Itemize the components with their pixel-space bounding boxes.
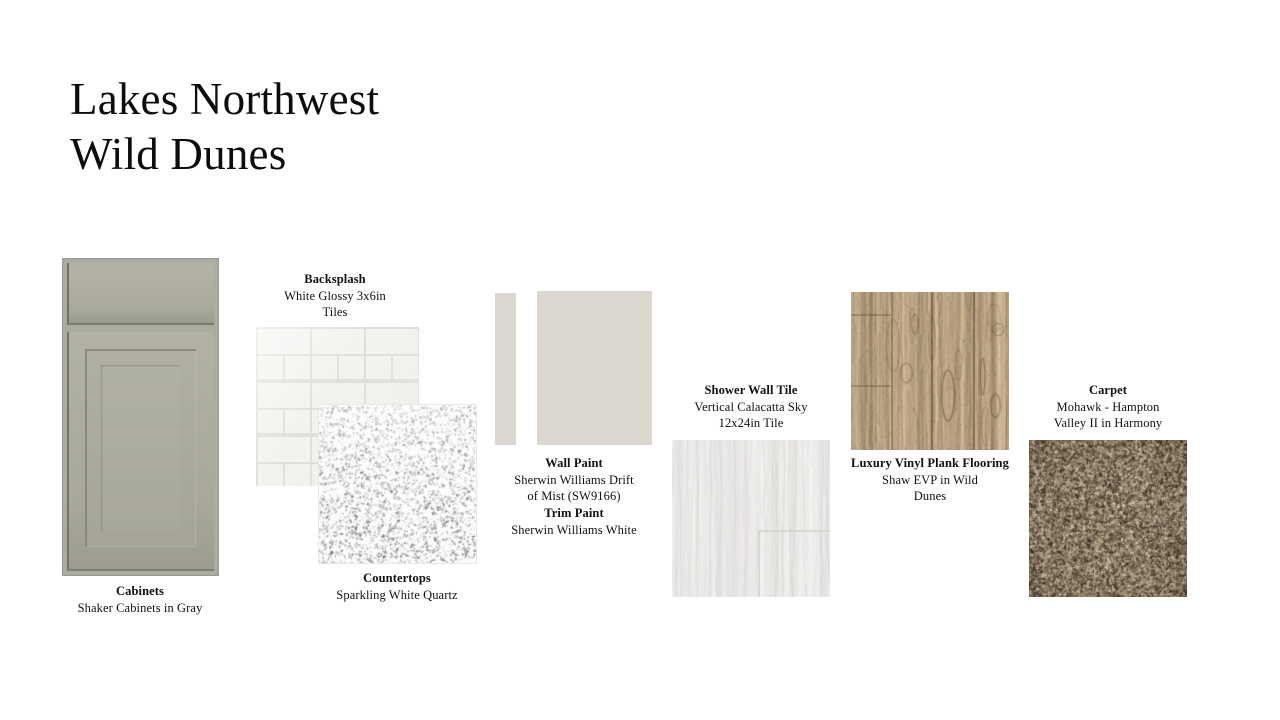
caption-carpet: Carpet Mohawk - Hampton Valley II in Har…: [1029, 382, 1187, 432]
swatch-countertops: [319, 405, 476, 563]
caption-wall-paint: Wall Paint Sherwin Williams Drift of Mis…: [495, 455, 653, 538]
cabinet-door-front: [67, 332, 214, 571]
tile-seam-vertical: [758, 530, 760, 597]
caption-shower-wall-tile-description: Vertical Calacatta Sky 12x24in Tile: [672, 399, 830, 432]
quartz-speckle-texture: [319, 405, 476, 563]
caption-carpet-description: Mohawk - Hampton Valley II in Harmony: [1029, 399, 1187, 432]
swatch-lvp-flooring: [851, 292, 1009, 450]
caption-lvp-flooring-description: Shaw EVP in Wild Dunes: [851, 472, 1009, 505]
caption-cabinets: Cabinets Shaker Cabinets in Gray: [50, 583, 230, 616]
plank-seam: [931, 292, 933, 450]
swatch-cabinets: [62, 258, 219, 576]
caption-wall-paint-label: Wall Paint: [495, 455, 653, 472]
plank-end-seam: [851, 385, 891, 387]
swatch-carpet: [1029, 440, 1187, 597]
caption-countertops: Countertops Sparkling White Quartz: [317, 570, 477, 603]
caption-backsplash-label: Backsplash: [254, 271, 416, 288]
caption-wall-paint-description: Sherwin Williams Drift of Mist (SW9166): [495, 472, 653, 505]
caption-shower-wall-tile-label: Shower Wall Tile: [672, 382, 830, 399]
cabinet-door-panel: [101, 365, 180, 531]
caption-countertops-label: Countertops: [317, 570, 477, 587]
plank-seam: [973, 292, 975, 450]
caption-backsplash: Backsplash White Glossy 3x6in Tiles: [254, 271, 416, 321]
caption-trim-paint-label: Trim Paint: [495, 505, 653, 522]
caption-carpet-label: Carpet: [1029, 382, 1187, 399]
mood-board: Lakes Northwest Wild Dunes Cabinets Shak…: [0, 0, 1280, 720]
swatch-trim-paint: [495, 293, 516, 445]
caption-lvp-flooring: Luxury Vinyl Plank Flooring Shaw EVP in …: [851, 455, 1009, 505]
caption-cabinets-description: Shaker Cabinets in Gray: [50, 600, 230, 617]
caption-lvp-flooring-label: Luxury Vinyl Plank Flooring: [851, 455, 1009, 472]
caption-backsplash-description: White Glossy 3x6in Tiles: [254, 288, 416, 321]
swatch-wall-paint: [537, 291, 652, 445]
plank-seam: [891, 292, 893, 450]
page-title: Lakes Northwest Wild Dunes: [70, 72, 379, 182]
marble-grain-texture: [672, 440, 830, 597]
caption-countertops-description: Sparkling White Quartz: [317, 587, 477, 604]
caption-shower-wall-tile: Shower Wall Tile Vertical Calacatta Sky …: [672, 382, 830, 432]
cabinet-door-frame: [85, 349, 196, 547]
wood-grain-texture: [851, 292, 1009, 450]
tile-seam-horizontal: [758, 530, 830, 532]
caption-cabinets-label: Cabinets: [50, 583, 230, 600]
plank-end-seam: [851, 314, 891, 316]
carpet-pile-texture: [1029, 440, 1187, 597]
caption-trim-paint-description: Sherwin Williams White: [495, 522, 653, 539]
swatch-shower-wall-tile: [672, 440, 830, 597]
cabinet-drawer-front: [67, 263, 214, 325]
